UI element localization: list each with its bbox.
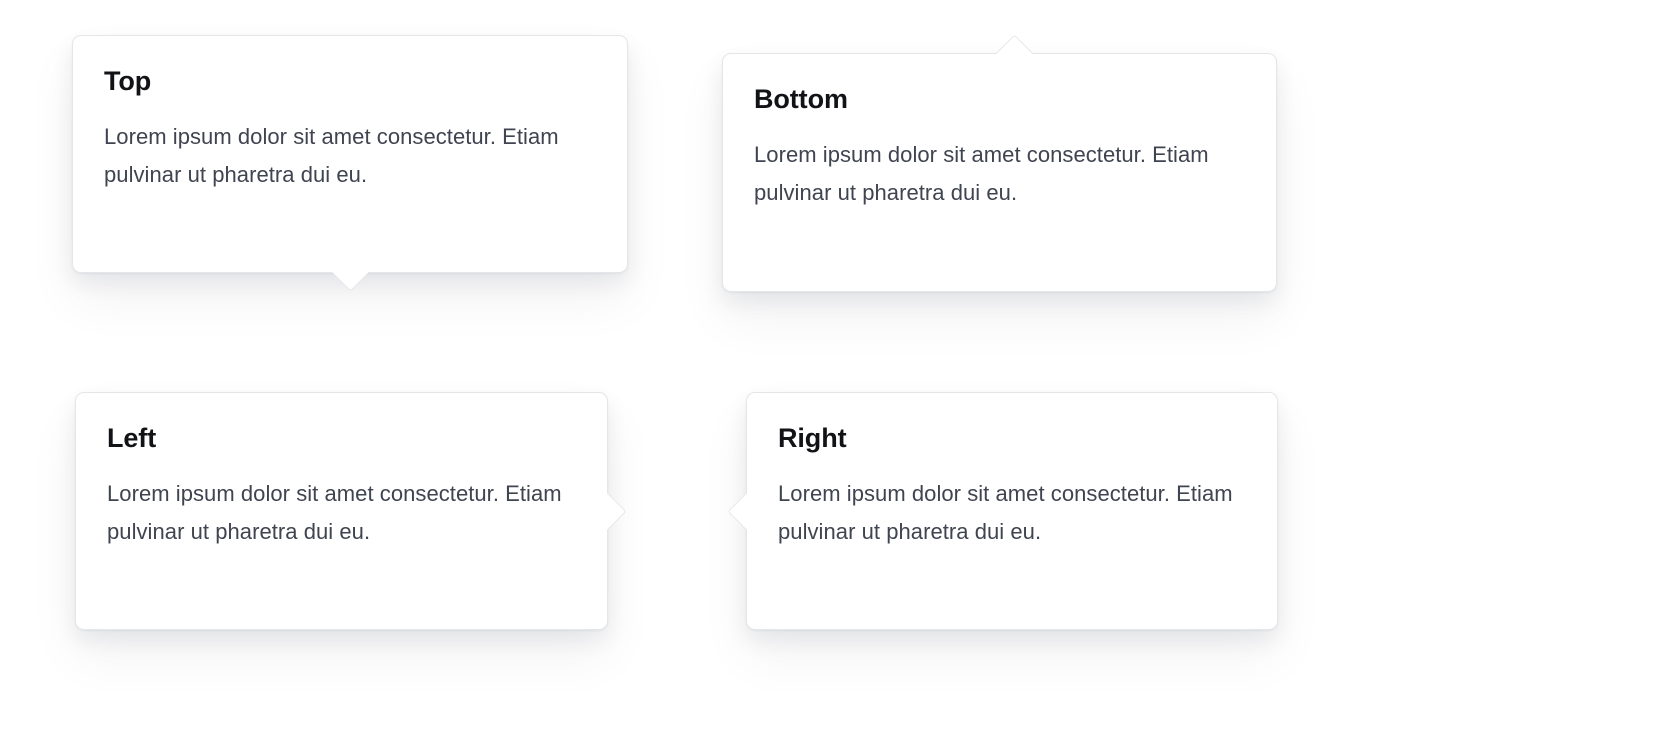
tooltip-body: Lorem ipsum dolor sit amet consectetur. … bbox=[778, 475, 1246, 551]
tooltip-card-bottom[interactable]: Bottom Lorem ipsum dolor sit amet consec… bbox=[722, 53, 1277, 292]
triangle-right-icon bbox=[588, 492, 626, 530]
tooltip-body: Lorem ipsum dolor sit amet consectetur. … bbox=[754, 136, 1245, 212]
tooltip-title: Top bbox=[104, 66, 596, 96]
tooltip-body: Lorem ipsum dolor sit amet consectetur. … bbox=[104, 118, 596, 194]
tooltip-title: Right bbox=[778, 423, 1246, 453]
tooltip-body: Lorem ipsum dolor sit amet consectetur. … bbox=[107, 475, 576, 551]
tooltip-title: Bottom bbox=[754, 84, 1245, 114]
tooltip-arrow-seam bbox=[747, 490, 750, 532]
tooltip-card-top[interactable]: Top Lorem ipsum dolor sit amet consectet… bbox=[72, 35, 628, 273]
tooltip-title: Left bbox=[107, 423, 576, 453]
tooltip-card-right[interactable]: Right Lorem ipsum dolor sit amet consect… bbox=[746, 392, 1278, 630]
tooltip-arrow-seam bbox=[604, 490, 607, 532]
triangle-down-icon bbox=[331, 253, 369, 291]
tooltip-arrow-seam bbox=[988, 54, 1030, 57]
tooltip-showcase: Top Lorem ipsum dolor sit amet consectet… bbox=[0, 0, 1672, 740]
tooltip-card-left[interactable]: Left Lorem ipsum dolor sit amet consecte… bbox=[75, 392, 608, 630]
tooltip-arrow-seam bbox=[329, 269, 371, 272]
